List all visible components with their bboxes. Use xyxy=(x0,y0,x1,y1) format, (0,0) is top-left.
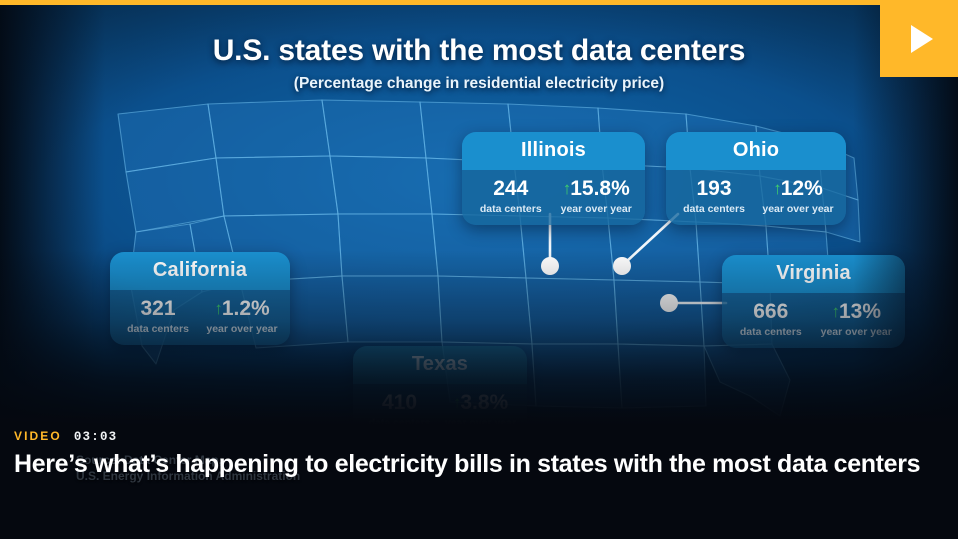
state-card-california[interactable]: California 321 data centers ↑1.2% year o… xyxy=(110,252,290,345)
change-pct-illinois: 15.8% xyxy=(570,177,630,200)
video-duration: 03:03 xyxy=(74,430,118,444)
datacenter-count-virginia: 666 xyxy=(730,301,812,323)
datacenter-stat-ohio: 193 data centers xyxy=(672,178,756,215)
state-name-california: California xyxy=(110,252,290,290)
graphic-subtitle: (Percentage change in residential electr… xyxy=(0,75,958,93)
change-value-illinois: ↑15.8% xyxy=(556,178,638,200)
change-label-virginia: year over year xyxy=(816,326,898,338)
state-card-texas[interactable]: Texas 410 data centers ↑3.8% year over y… xyxy=(353,346,527,425)
datacenter-count-ohio: 193 xyxy=(674,178,754,200)
top-accent-strip xyxy=(0,0,958,5)
video-kicker-label: VIDEO xyxy=(14,429,62,443)
state-name-texas: Texas xyxy=(353,346,527,384)
datacenter-stat-california: 321 data centers xyxy=(116,298,200,335)
change-value-california: ↑1.2% xyxy=(202,298,282,320)
state-stats-california: 321 data centers ↑1.2% year over year xyxy=(110,290,290,345)
state-name-ohio: Ohio xyxy=(666,132,846,170)
change-pct-california: 1.2% xyxy=(222,297,270,320)
datacenter-count-label-illinois: data centers xyxy=(470,203,552,215)
play-button[interactable] xyxy=(880,0,958,77)
change-label-ohio: year over year xyxy=(758,203,838,215)
change-label-texas: year over year xyxy=(442,417,519,425)
datacenter-stat-illinois: 244 data centers xyxy=(468,178,554,215)
video-card[interactable]: U.S. states with the most data centers (… xyxy=(0,0,958,539)
change-value-virginia: ↑13% xyxy=(816,301,898,323)
change-pct-virginia: 13% xyxy=(839,300,881,323)
graphic-title-block: U.S. states with the most data centers (… xyxy=(0,34,958,93)
datacenter-count-label-texas: data centers xyxy=(361,417,438,425)
change-value-texas: ↑3.8% xyxy=(442,392,519,414)
video-thumbnail-stage[interactable]: U.S. states with the most data centers (… xyxy=(0,0,958,425)
state-stats-ohio: 193 data centers ↑12% year over year xyxy=(666,170,846,225)
change-pct-texas: 3.8% xyxy=(460,391,508,414)
state-stats-texas: 410 data centers ↑3.8% year over year xyxy=(353,384,527,425)
datacenter-count-label-virginia: data centers xyxy=(730,326,812,338)
datacenter-count-texas: 410 xyxy=(361,392,438,414)
change-value-ohio: ↑12% xyxy=(758,178,838,200)
change-stat-texas: ↑3.8% year over year xyxy=(440,392,521,425)
datacenter-stat-texas: 410 data centers xyxy=(359,392,440,425)
state-card-illinois[interactable]: Illinois 244 data centers ↑15.8% year ov… xyxy=(462,132,645,225)
state-name-illinois: Illinois xyxy=(462,132,645,170)
datacenter-count-california: 321 xyxy=(118,298,198,320)
change-label-california: year over year xyxy=(202,323,282,335)
state-stats-illinois: 244 data centers ↑15.8% year over year xyxy=(462,170,645,225)
datacenter-stat-virginia: 666 data centers xyxy=(728,301,814,338)
change-stat-california: ↑1.2% year over year xyxy=(200,298,284,335)
play-triangle-icon xyxy=(911,25,933,53)
change-stat-ohio: ↑12% year over year xyxy=(756,178,840,215)
change-pct-ohio: 12% xyxy=(781,177,823,200)
datacenter-count-label-california: data centers xyxy=(118,323,198,335)
change-stat-illinois: ↑15.8% year over year xyxy=(554,178,640,215)
video-headline[interactable]: Here’s what’s happening to electricity b… xyxy=(14,450,944,479)
graphic-title: U.S. states with the most data centers xyxy=(0,34,958,67)
change-label-illinois: year over year xyxy=(556,203,638,215)
change-stat-virginia: ↑13% year over year xyxy=(814,301,900,338)
datacenter-count-label-ohio: data centers xyxy=(674,203,754,215)
state-card-ohio[interactable]: Ohio 193 data centers ↑12% year over yea… xyxy=(666,132,846,225)
state-card-virginia[interactable]: Virginia 666 data centers ↑13% year over… xyxy=(722,255,905,348)
state-name-virginia: Virginia xyxy=(722,255,905,293)
video-meta: VIDEO 03:03 xyxy=(14,429,117,444)
state-stats-virginia: 666 data centers ↑13% year over year xyxy=(722,293,905,348)
datacenter-count-illinois: 244 xyxy=(470,178,552,200)
